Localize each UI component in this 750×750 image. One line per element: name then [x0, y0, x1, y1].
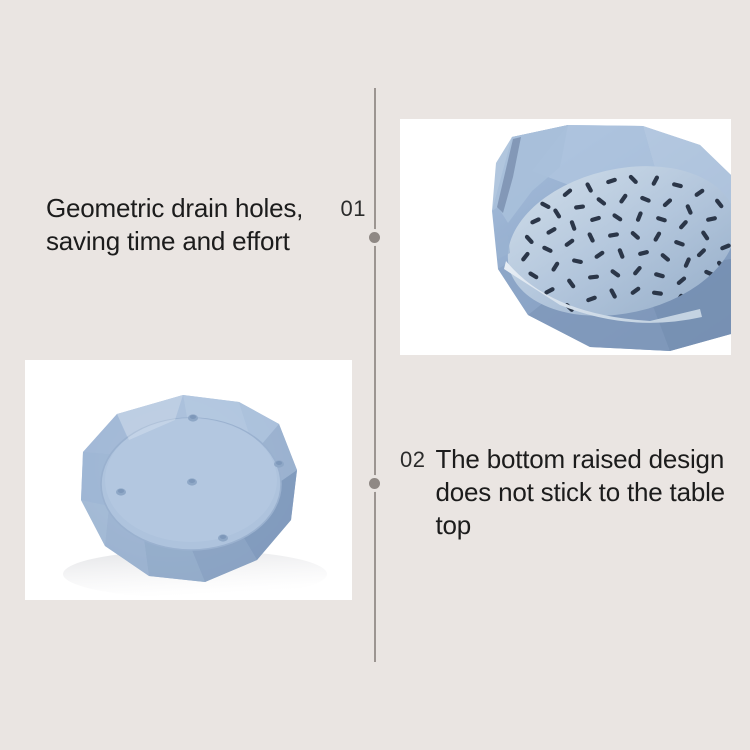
feature-01-description: Geometric drain holes, saving time and e…: [46, 192, 304, 258]
infographic-page: Geometric drain holes, saving time and e…: [0, 0, 750, 750]
product-photo-drain-holes: [400, 119, 731, 355]
timeline-dot-02: [369, 478, 380, 489]
feature-block-02: 02 The bottom raised design does not sti…: [400, 443, 730, 542]
timeline-divider-line: [374, 88, 376, 662]
feature-02-description: The bottom raised design does not stick …: [435, 443, 727, 542]
feature-block-01: Geometric drain holes, saving time and e…: [46, 192, 366, 258]
feature-01-number: 01: [341, 196, 366, 222]
product-photo-raised-bottom: [25, 360, 352, 600]
colander-illustration: [400, 119, 731, 355]
feature-02-number: 02: [400, 447, 425, 473]
timeline-dot-01: [369, 232, 380, 243]
bowl-underside-illustration: [25, 360, 352, 600]
